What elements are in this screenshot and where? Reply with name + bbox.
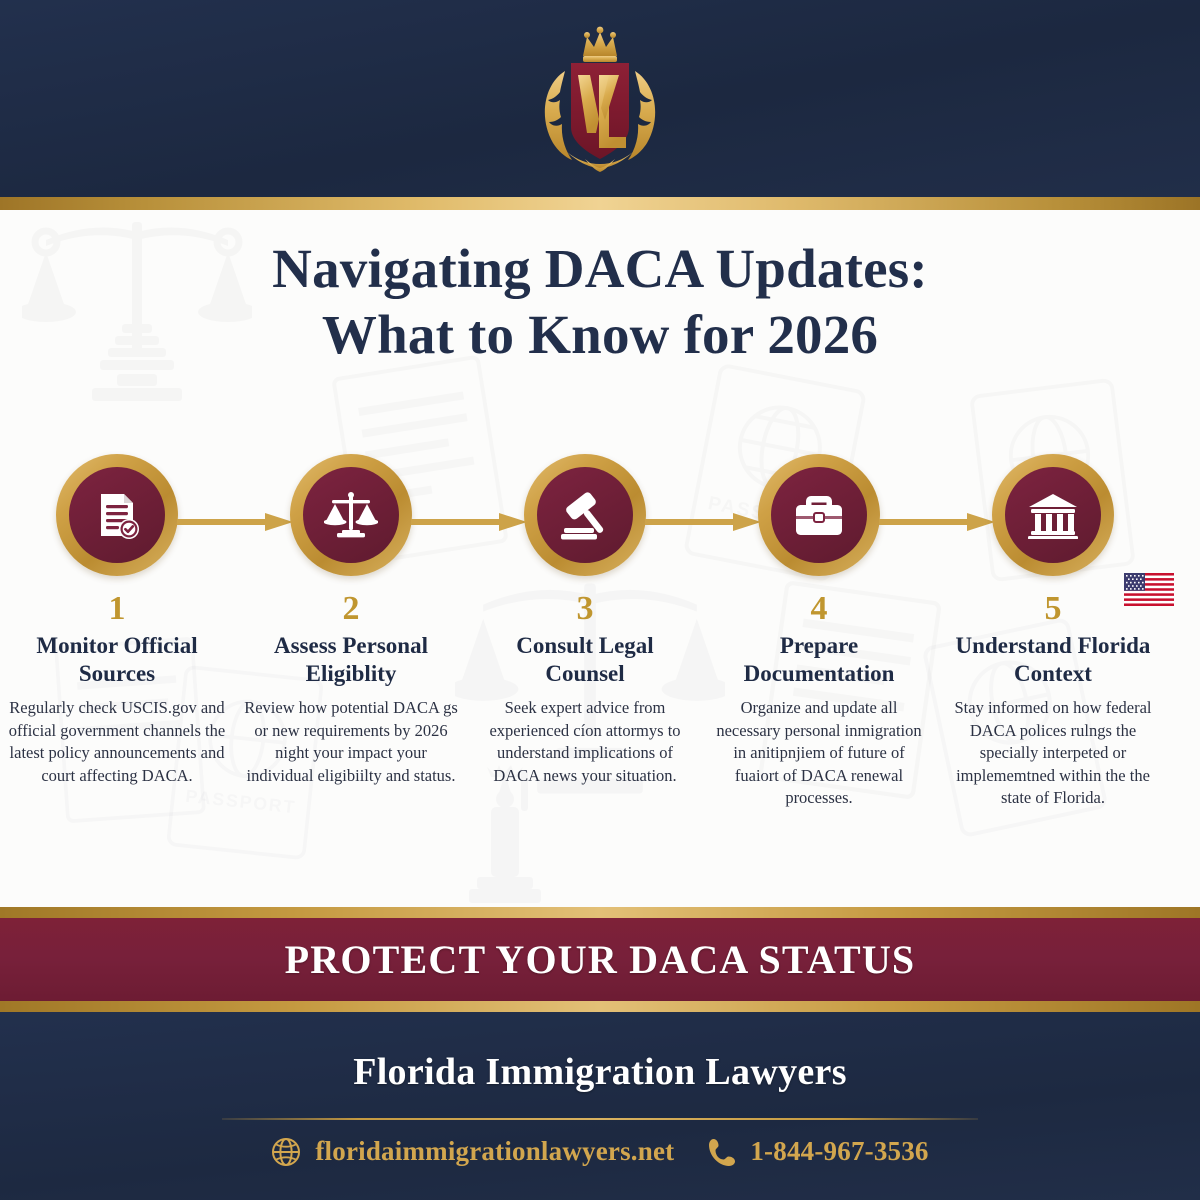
header-gold-divider — [0, 197, 1200, 210]
contact-row: floridaimmigrationlawyers.net 1-844-967-… — [0, 1136, 1200, 1167]
cta-top-gold-rule — [0, 907, 1200, 918]
scales-of-justice-icon — [324, 489, 378, 541]
phone-contact[interactable]: 1-844-967-3536 — [708, 1136, 928, 1167]
step-badge-inner — [303, 467, 399, 563]
step-number: 5 — [1045, 588, 1062, 630]
header-bar — [0, 0, 1200, 197]
website-text: floridaimmigrationlawyers.net — [315, 1136, 674, 1167]
step-badge-row — [468, 450, 702, 580]
step-item[interactable]: 1 Monitor Official Sources Regularly che… — [0, 450, 234, 787]
step-title: Consult Legal Counsel — [480, 632, 690, 688]
step-badge-row — [0, 450, 234, 580]
gavel-icon — [558, 489, 612, 541]
step-item[interactable]: 2 Assess Personal Eligiblity Review how … — [234, 450, 468, 787]
step-badge-inner — [771, 467, 867, 563]
content-area: PASSPORT PASSPORT PASSPORT — [0, 210, 1200, 907]
phone-text: 1-844-967-3536 — [750, 1136, 928, 1167]
step-number: 3 — [577, 588, 594, 630]
step-badge-row — [936, 450, 1170, 580]
step-item[interactable]: 3 Consult Legal Counsel Seek expert advi… — [468, 450, 702, 787]
step-badge — [758, 454, 880, 576]
document-check-icon — [91, 489, 143, 541]
step-badge-inner — [537, 467, 633, 563]
step-badge — [56, 454, 178, 576]
phone-icon — [708, 1137, 736, 1167]
cta-bottom-gold-rule — [0, 1001, 1200, 1012]
crown-icon — [583, 26, 617, 61]
cta-text: PROTECT YOUR DACA STATUS — [285, 936, 916, 983]
step-number: 1 — [109, 588, 126, 630]
step-badge — [290, 454, 412, 576]
step-title: Understand Florida Context — [948, 632, 1158, 688]
firm-name: Florida Immigration Lawyers — [0, 1050, 1200, 1094]
step-number: 4 — [811, 588, 828, 630]
website-contact[interactable]: floridaimmigrationlawyers.net — [271, 1136, 674, 1167]
footer-bar: Florida Immigration Lawyers floridaimmig… — [0, 1012, 1200, 1200]
step-item[interactable]: 5 Understand Florida Context Stay inform… — [936, 450, 1170, 810]
step-description: Organize and update all necessary person… — [710, 697, 928, 810]
step-title: Prepare Documentation — [714, 632, 924, 688]
firm-crest-logo — [495, 19, 705, 179]
footer-divider — [222, 1118, 978, 1120]
step-badge-row — [702, 450, 936, 580]
step-number: 2 — [343, 588, 360, 630]
globe-icon — [271, 1137, 301, 1167]
step-badge-row — [234, 450, 468, 580]
title-line-2: What to Know for 2026 — [0, 302, 1200, 368]
briefcase-icon — [792, 491, 846, 539]
infographic-poster: PASSPORT PASSPORT PASSPORT — [0, 0, 1200, 1200]
steps-row: 1 Monitor Official Sources Regularly che… — [0, 450, 1200, 810]
cta-banner: PROTECT YOUR DACA STATUS — [0, 918, 1200, 1001]
step-badge — [524, 454, 646, 576]
step-item[interactable]: 4 Prepare Documentation Organize and upd… — [702, 450, 936, 810]
step-description: Stay informed on how federal DACA police… — [944, 697, 1162, 810]
step-title: Monitor Official Sources — [12, 632, 222, 688]
step-description: Review how potential DACA gs or new requ… — [242, 697, 460, 787]
page-title: Navigating DACA Updates: What to Know fo… — [0, 236, 1200, 368]
step-title: Assess Personal Eligiblity — [246, 632, 456, 688]
courthouse-icon — [1026, 491, 1080, 539]
step-badge — [992, 454, 1114, 576]
step-description: Seek expert advice from experienced cíon… — [476, 697, 694, 787]
step-badge-inner — [1005, 467, 1101, 563]
title-line-1: Navigating DACA Updates: — [0, 236, 1200, 302]
step-description: Regularly check USCIS.gov and official g… — [8, 697, 226, 787]
step-badge-inner — [69, 467, 165, 563]
us-flag-icon — [1124, 573, 1174, 606]
